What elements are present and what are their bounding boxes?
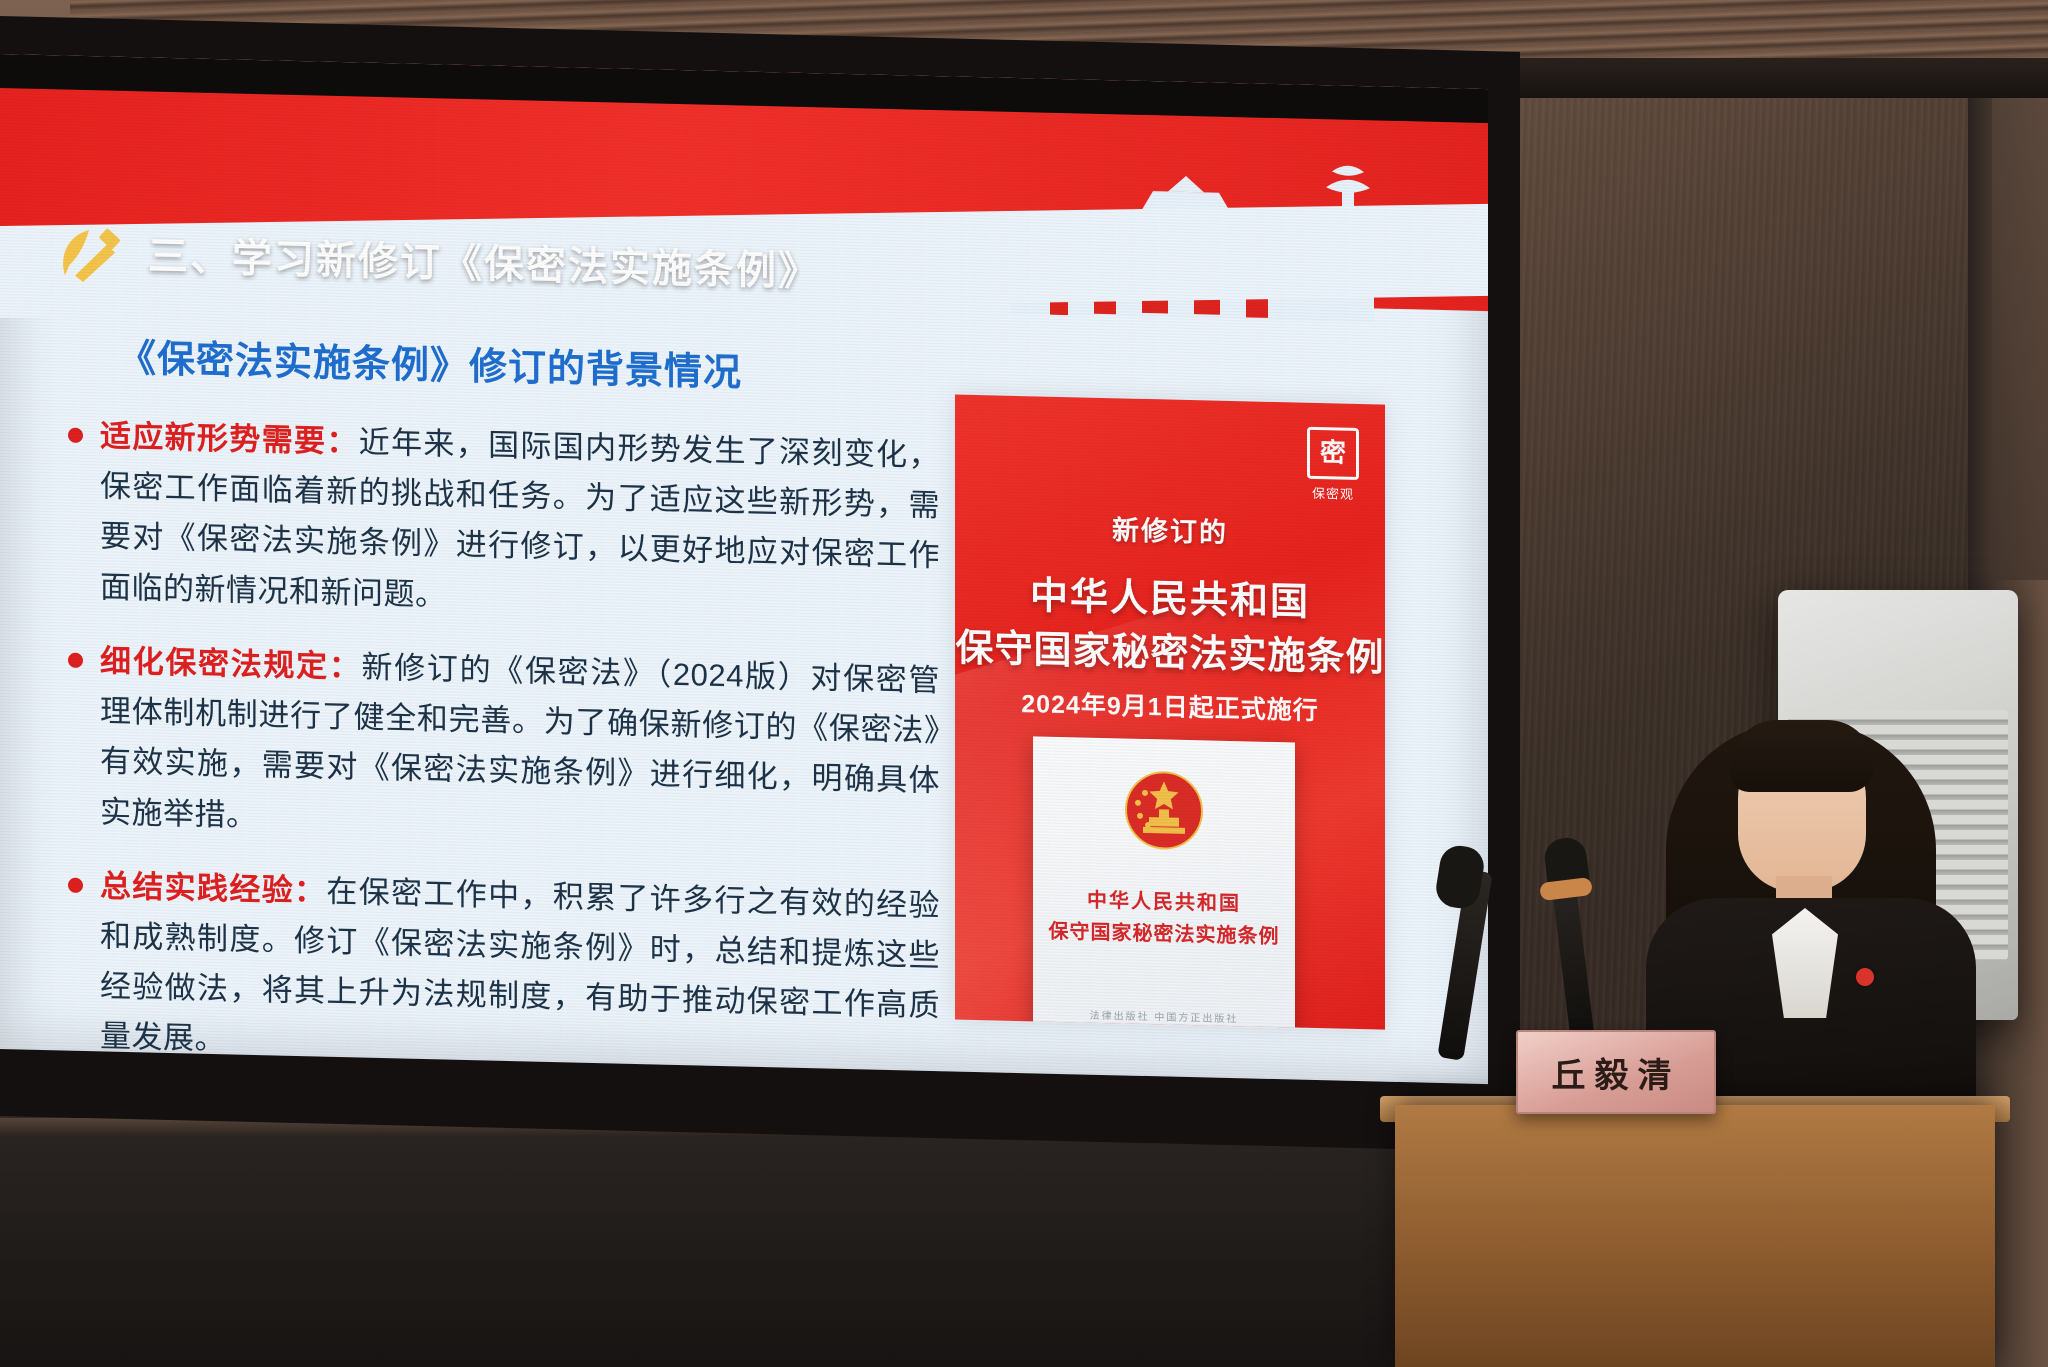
bullet-list: 适应新形势需要：近年来，国际国内形势发生了深刻变化，保密工作面临着新的挑战和任务…: [60, 410, 940, 1084]
nameplate-text: 丘毅清: [1552, 1048, 1681, 1097]
bullet-text: 细化保密法规定：新修订的《保密法》（2024版）对保密管理体制机制进行了健全和完…: [100, 636, 940, 857]
slide-header-band: 三、学习新修订《保密法实施条例》: [0, 54, 1488, 311]
presentation-slide: 三、学习新修订《保密法实施条例》 《保密法实施条例》修订的背景情况 适应新形势需…: [0, 54, 1488, 1084]
bullet-text: 适应新形势需要：近年来，国际国内形势发生了深刻变化，保密工作面临着新的挑战和任务…: [100, 411, 940, 632]
bullet-lead: 适应新形势需要：: [100, 418, 359, 459]
wall-panel-strip: [1992, 20, 2048, 580]
bullet-dot-icon: [68, 428, 83, 443]
led-display-screen: 三、学习新修订《保密法实施条例》 《保密法实施条例》修订的背景情况 适应新形势需…: [0, 16, 1520, 1152]
bullet-item: 总结实践经验：在保密工作中，积累了许多行之有效的经验和成熟制度。修订《保密法实施…: [60, 860, 940, 1082]
poster-eyebrow: 新修订的: [955, 505, 1385, 554]
bullet-text: 总结实践经验：在保密工作中，积累了许多行之有效的经验和成熟制度。修订《保密法实施…: [100, 861, 940, 1082]
podium: [1395, 1105, 1995, 1367]
floor: [0, 1120, 1400, 1367]
bullet-dot-icon: [68, 652, 83, 667]
bullet-dot-icon: [68, 877, 83, 892]
speaker-lapel-badge: [1856, 968, 1874, 986]
speaker-nameplate: 丘毅清: [1516, 1030, 1716, 1114]
logo-caption: 保密观: [1305, 483, 1361, 503]
regulation-poster: 密 保密观 新修订的 中华人民共和国 保守国家秘密法实施条例 2024年9月1日…: [955, 395, 1385, 1030]
conference-room-scene: 三、学习新修订《保密法实施条例》 《保密法实施条例》修订的背景情况 适应新形势需…: [0, 0, 2048, 1367]
baomiguan-logo: 密 保密观: [1305, 427, 1361, 503]
book-title-line2: 保守国家秘密法实施条例: [1033, 914, 1295, 949]
bullet-item: 适应新形势需要：近年来，国际国内形势发生了深刻变化，保密工作面临着新的挑战和任务…: [60, 410, 940, 632]
speaker-fringe: [1730, 720, 1874, 792]
bullet-item: 细化保密法规定：新修订的《保密法》（2024版）对保密管理体制机制进行了健全和完…: [60, 635, 940, 857]
poster-title-line2: 保守国家秘密法实施条例: [955, 617, 1385, 682]
logo-mark: 密: [1307, 427, 1359, 480]
national-emblem-icon: [1121, 766, 1207, 854]
slide-subtitle: 《保密法实施条例》修订的背景情况: [118, 327, 742, 397]
bullet-lead: 总结实践经验：: [100, 868, 326, 908]
bullet-lead: 细化保密法规定：: [100, 643, 362, 684]
book-title-line1: 中华人民共和国: [1033, 882, 1295, 917]
hammer-sickle-icon: [55, 223, 127, 285]
book-publisher: 法律出版社 中国方正出版社: [1033, 1005, 1295, 1026]
book-cover: 中华人民共和国 保守国家秘密法实施条例 法律出版社 中国方正出版社: [1033, 736, 1295, 1029]
